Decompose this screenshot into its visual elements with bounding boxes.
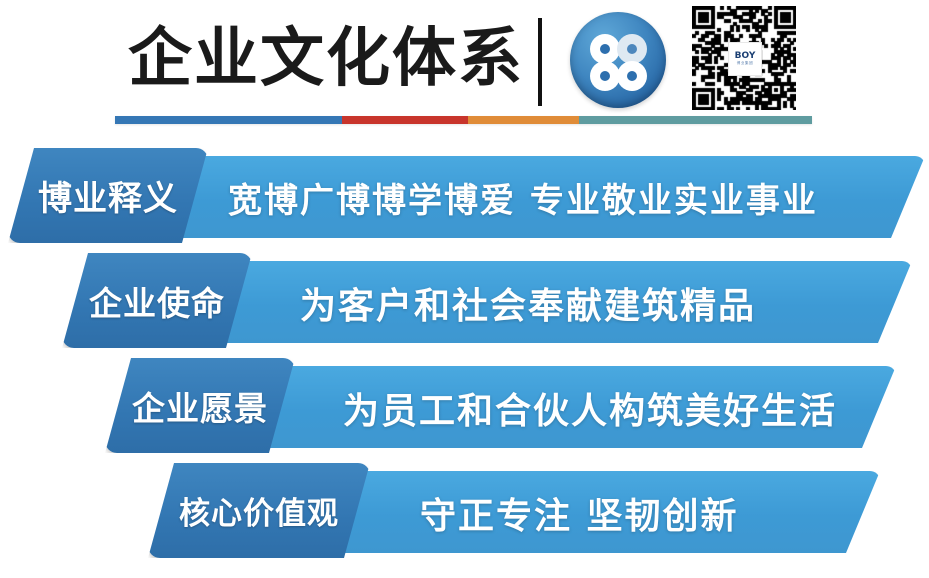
logo-pip-1: [590, 34, 620, 64]
culture-row-label: 博业释义: [38, 171, 178, 220]
qr-brand-text: BOY: [735, 52, 756, 61]
culture-row: 守正专注 坚韧创新核心价值观: [0, 461, 929, 566]
culture-row: 为客户和社会奉献建筑精品企业使命: [0, 251, 929, 356]
vertical-rule-icon: [538, 18, 542, 106]
culture-row-text: 守正专注 坚韧创新: [420, 499, 739, 535]
header: 企业文化体系 BOY 博业集团: [0, 0, 929, 140]
culture-row-tab[interactable]: 博业释义: [8, 148, 208, 243]
culture-rows: 宽博广博博学博爱 专业敬业实业事业博业释义为客户和社会奉献建筑精品企业使命为员工…: [0, 146, 929, 566]
culture-row-label: 企业愿景: [132, 382, 268, 430]
culture-row-text: 为员工和合伙人构筑美好生活: [343, 394, 837, 430]
logo-disc: [570, 12, 666, 108]
culture-row-tab[interactable]: 企业愿景: [105, 358, 295, 453]
accent-rule-segment-2: [342, 116, 468, 124]
culture-row-tab[interactable]: 核心价值观: [148, 463, 370, 558]
logo-pip-2: [617, 34, 647, 64]
page-title: 企业文化体系: [128, 14, 524, 104]
logo-pip-3: [590, 61, 620, 91]
logo-pip-4: [617, 61, 647, 91]
culture-row-text: 为客户和社会奉献建筑精品: [300, 289, 756, 325]
accent-rule: [115, 116, 812, 124]
qr-center-brand: BOY 博业集团: [728, 42, 762, 76]
culture-row-label: 企业使命: [89, 277, 225, 325]
accent-rule-segment-3: [468, 116, 578, 124]
culture-row-label: 核心价值观: [179, 488, 339, 533]
culture-row: 宽博广博博学博爱 专业敬业实业事业博业释义: [0, 146, 929, 251]
culture-row: 为员工和合伙人构筑美好生活企业愿景: [0, 356, 929, 461]
wechat-qr-code[interactable]: BOY 博业集团: [692, 6, 796, 110]
culture-row-tab[interactable]: 企业使命: [62, 253, 252, 348]
boy-circular-logo: [570, 12, 666, 108]
accent-rule-segment-4: [579, 116, 812, 124]
qr-sub-text: 博业集团: [737, 62, 753, 66]
accent-rule-segment-1: [115, 116, 342, 124]
culture-row-text: 宽博广博博学博爱 专业敬业实业事业: [228, 184, 818, 218]
